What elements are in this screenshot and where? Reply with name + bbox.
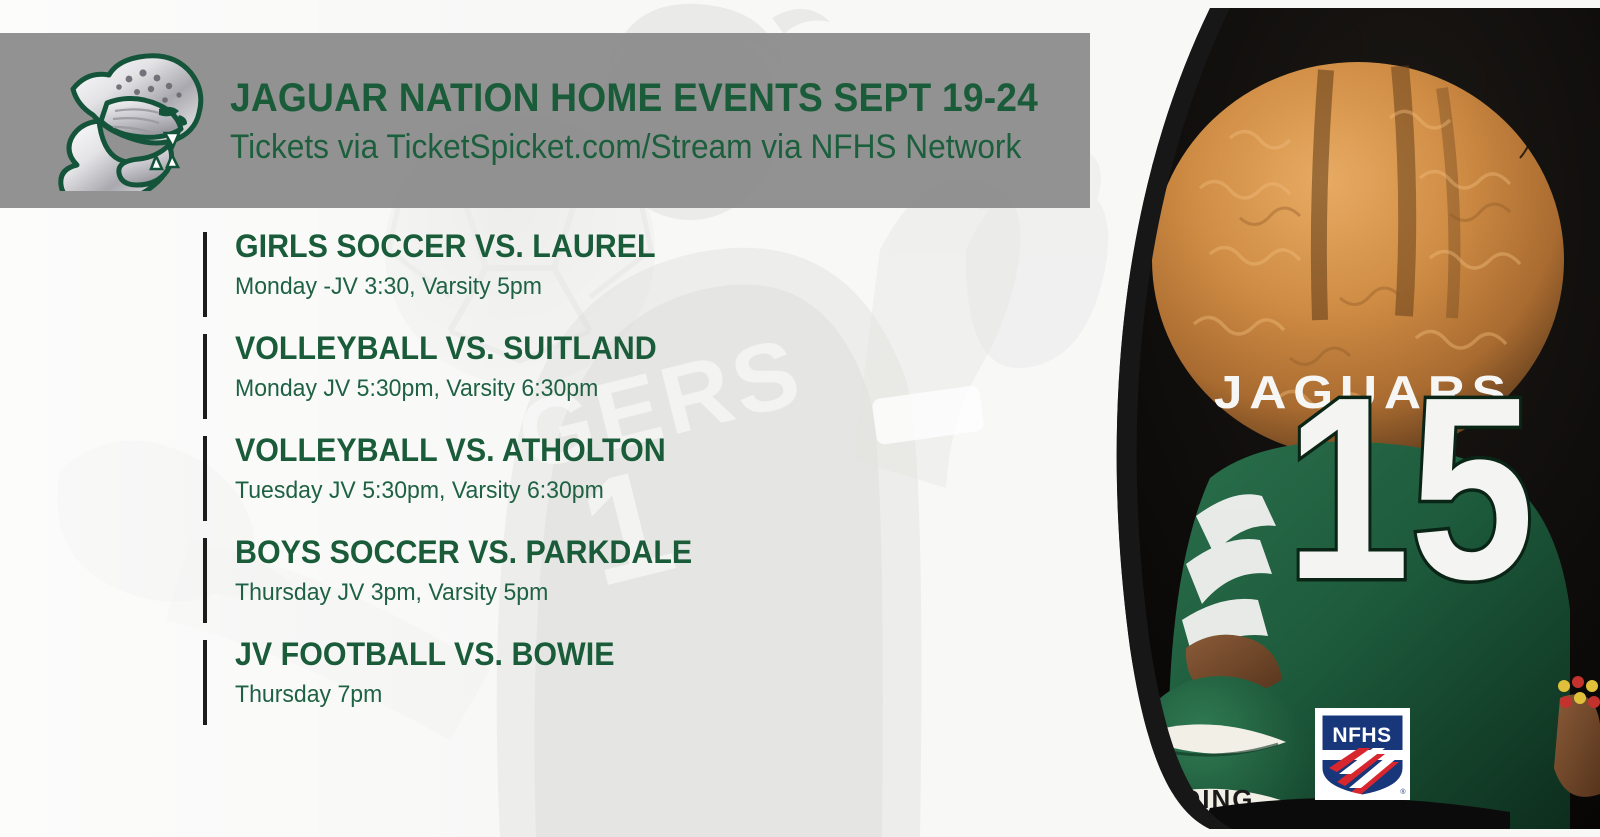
event-detail: Tuesday JV 5:30pm, Varsity 6:30pm <box>235 479 991 503</box>
jaguar-logo-graphic <box>55 51 205 191</box>
list-item: BOYS SOCCER VS. PARKDALE Thursday JV 3pm… <box>203 536 1023 605</box>
list-item: VOLLEYBALL VS. SUITLAND Monday JV 5:30pm… <box>203 332 1023 401</box>
jaguar-head-logo <box>55 51 205 191</box>
jersey-number: 15 <box>1286 343 1535 634</box>
poster-canvas: GERS 1 <box>0 0 1600 837</box>
nfhs-logo: NFHS ® <box>1315 708 1410 800</box>
list-item: VOLLEYBALL VS. ATHOLTON Tuesday JV 5:30p… <box>203 434 1023 503</box>
header-banner: JAGUAR NATION HOME EVENTS SEPT 19-24 Tic… <box>0 33 1090 208</box>
page-title: JAGUAR NATION HOME EVENTS SEPT 19-24 <box>230 78 1038 118</box>
registered-mark: ® <box>1400 788 1406 796</box>
athlete-photo: JAGUARS 15 DING <box>1090 8 1600 829</box>
event-title: VOLLEYBALL VS. ATHOLTON <box>235 434 984 466</box>
ticket-info-subtitle: Tickets via TicketSpicket.com/Stream via… <box>230 130 1038 164</box>
list-item: JV FOOTBALL VS. BOWIE Thursday 7pm <box>203 638 1023 707</box>
event-accent-bar <box>203 232 207 317</box>
event-detail: Thursday 7pm <box>235 683 991 707</box>
event-accent-bar <box>203 538 207 623</box>
list-item: GIRLS SOCCER VS. LAUREL Monday -JV 3:30,… <box>203 230 1023 299</box>
event-detail: Monday -JV 3:30, Varsity 5pm <box>235 275 991 299</box>
nfhs-label: NFHS <box>1332 724 1391 747</box>
event-detail: Thursday JV 3pm, Varsity 5pm <box>235 581 991 605</box>
nfhs-logo-graphic: NFHS ® <box>1315 708 1410 800</box>
svg-text:15: 15 <box>1286 343 1535 634</box>
event-title: BOYS SOCCER VS. PARKDALE <box>235 536 984 568</box>
event-title: JV FOOTBALL VS. BOWIE <box>235 638 984 670</box>
event-title: GIRLS SOCCER VS. LAUREL <box>235 230 984 262</box>
event-accent-bar <box>203 436 207 521</box>
banner-text-block: JAGUAR NATION HOME EVENTS SEPT 19-24 Tic… <box>230 78 1090 164</box>
event-detail: Monday JV 5:30pm, Varsity 6:30pm <box>235 377 991 401</box>
athlete-photo-panel: JAGUARS 15 DING <box>1090 8 1600 829</box>
event-accent-bar <box>203 334 207 419</box>
event-title: VOLLEYBALL VS. SUITLAND <box>235 332 984 364</box>
event-accent-bar <box>203 640 207 725</box>
events-list: GIRLS SOCCER VS. LAUREL Monday -JV 3:30,… <box>203 230 1023 707</box>
